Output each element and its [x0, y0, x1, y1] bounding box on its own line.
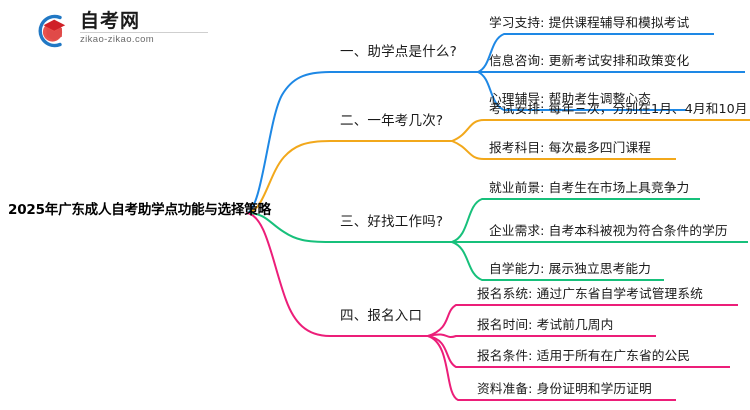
link-branch-4-leaf-2	[428, 334, 656, 337]
leaf-node-3-2[interactable]: 企业需求: 自考本科被视为符合条件的学历	[489, 220, 728, 239]
site-logo: 自考网 zikao-zikao.com	[30, 10, 210, 52]
leaf-node-4-1[interactable]: 报名系统: 通过广东省自学考试管理系统	[477, 283, 703, 302]
leaf-node-3-3[interactable]: 自学能力: 展示独立思考能力	[489, 258, 651, 277]
leaf-node-2-1[interactable]: 考试安排: 每年三次，分别在1月、4月和10月	[489, 98, 748, 117]
logo-brand-text: 自考网	[80, 12, 140, 32]
branch-node-1[interactable]: 一、助学点是什么?	[340, 40, 457, 60]
leaf-node-3-1[interactable]: 就业前景: 自考生在市场上具竞争力	[489, 177, 689, 196]
branch-node-4[interactable]: 四、报名入口	[340, 304, 422, 324]
mindmap-canvas: 自考网 zikao-zikao.com 2025年广东成人自考助学点功能与选择策…	[0, 0, 750, 410]
root-node-label[interactable]: 2025年广东成人自考助学点功能与选择策略	[8, 198, 271, 218]
logo-url-text: zikao-zikao.com	[80, 34, 154, 45]
branch-node-3[interactable]: 三、好找工作吗?	[340, 210, 443, 230]
leaf-node-1-1[interactable]: 学习支持: 提供课程辅导和模拟考试	[489, 12, 689, 31]
leaf-node-4-4[interactable]: 资料准备: 身份证明和学历证明	[477, 378, 652, 397]
link-root-to-branch-2	[246, 141, 452, 213]
link-root-to-branch-1	[246, 72, 478, 213]
leaf-node-1-2[interactable]: 信息咨询: 更新考试安排和政策变化	[489, 50, 689, 69]
leaf-node-4-2[interactable]: 报名时间: 考试前几周内	[477, 314, 613, 333]
branch-node-2[interactable]: 二、一年考几次?	[340, 109, 443, 129]
logo-mark-icon	[30, 12, 74, 50]
leaf-node-4-3[interactable]: 报名条件: 适用于所有在广东省的公民	[477, 345, 690, 364]
logo-divider	[80, 32, 208, 33]
leaf-node-2-2[interactable]: 报考科目: 每次最多四门课程	[489, 137, 651, 156]
